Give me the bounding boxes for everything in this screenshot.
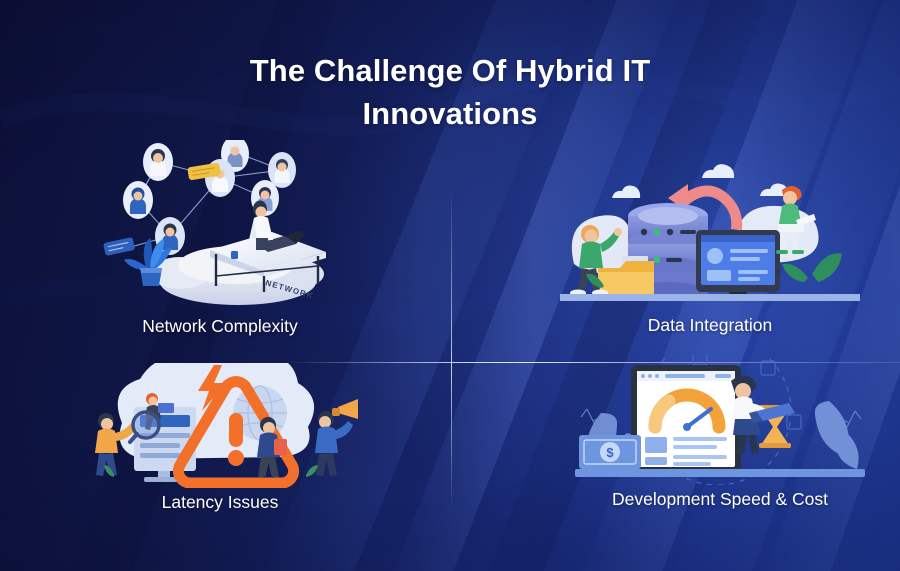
development-speed-cost-illustration: $ [565, 355, 875, 485]
quadrant-label-development-speed-cost: Development Speed & Cost [565, 489, 875, 510]
divider-vertical [451, 188, 452, 510]
tablet [631, 365, 741, 473]
avatar-node-1 [143, 143, 173, 181]
quadrant-network-complexity: NETWORK [60, 140, 380, 337]
person-with-megaphone [315, 399, 358, 476]
page-title-line-1: The Challenge Of Hybrid IT [250, 53, 650, 88]
avatar-node-4 [123, 181, 153, 219]
quadrant-development-speed-cost: $ Development Speed & Cost [565, 355, 875, 510]
data-integration-illustration [560, 146, 860, 301]
ground-line [560, 294, 860, 301]
chat-bubble-blue [103, 237, 135, 256]
money-currency-symbol: $ [606, 445, 614, 460]
quadrant-data-integration: Data Integration [560, 146, 860, 336]
quadrant-latency-issues: Latency Issues [70, 363, 370, 513]
quadrant-label-network-complexity: Network Complexity [60, 316, 380, 337]
quadrant-label-latency-issues: Latency Issues [70, 492, 370, 513]
slide-canvas: The Challenge Of Hybrid IT Innovations [0, 0, 900, 571]
money-bill: $ [579, 435, 641, 469]
latency-issues-illustration [70, 363, 370, 488]
ground-bar [575, 469, 865, 477]
page-title-line-2: Innovations [362, 96, 537, 131]
network-complexity-illustration: NETWORK [60, 140, 380, 308]
monitor [696, 230, 780, 301]
quadrant-label-data-integration: Data Integration [560, 315, 860, 336]
page-title: The Challenge Of Hybrid IT Innovations [0, 50, 900, 136]
